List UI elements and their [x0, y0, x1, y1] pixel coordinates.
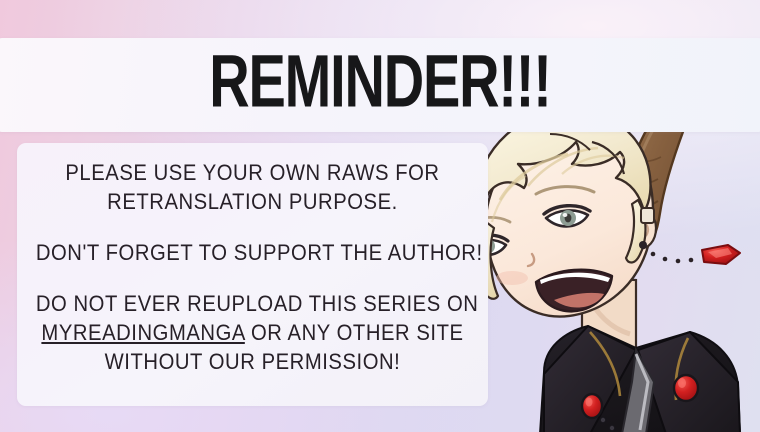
notice-paragraph-reupload: DO NOT EVER REUPLOAD THIS SERIES ON MYRE…	[36, 289, 469, 376]
red-gem-button-right	[674, 375, 698, 401]
site-name: MYREADINGMANGA	[41, 320, 244, 345]
notice-line: WITHOUT OUR PERMISSION!	[36, 347, 469, 376]
ear-cuff	[641, 208, 654, 223]
notice-paragraph-support: DON'T FORGET TO SUPPORT THE AUTHOR!	[36, 238, 469, 267]
notice-line-tail: OR ANY OTHER SITE	[245, 320, 464, 345]
notice-line-with-site: MYREADINGMANGA OR ANY OTHER SITE	[36, 318, 469, 347]
character-illustration	[440, 82, 760, 432]
red-gem-button-left	[582, 394, 602, 418]
notice-line: PLEASE USE YOUR OWN RAWS FOR	[36, 158, 469, 187]
notice-line: RETRANSLATION PURPOSE.	[36, 187, 469, 216]
notice-line: DO NOT EVER REUPLOAD THIS SERIES ON	[36, 289, 469, 318]
notice-text: PLEASE USE YOUR OWN RAWS FOR RETRANSLATI…	[17, 143, 488, 406]
cheek-blush	[496, 271, 528, 285]
notice-line: DON'T FORGET TO SUPPORT THE AUTHOR!	[36, 238, 469, 267]
red-gem-earring	[639, 241, 740, 264]
reminder-notice-image: REMINDER!!! PLEASE USE YOUR OWN RAWS FOR…	[0, 0, 760, 432]
page-title: REMINDER!!!	[76, 44, 684, 118]
notice-paragraph-raws: PLEASE USE YOUR OWN RAWS FOR RETRANSLATI…	[36, 158, 469, 216]
black-jacket	[540, 326, 740, 432]
